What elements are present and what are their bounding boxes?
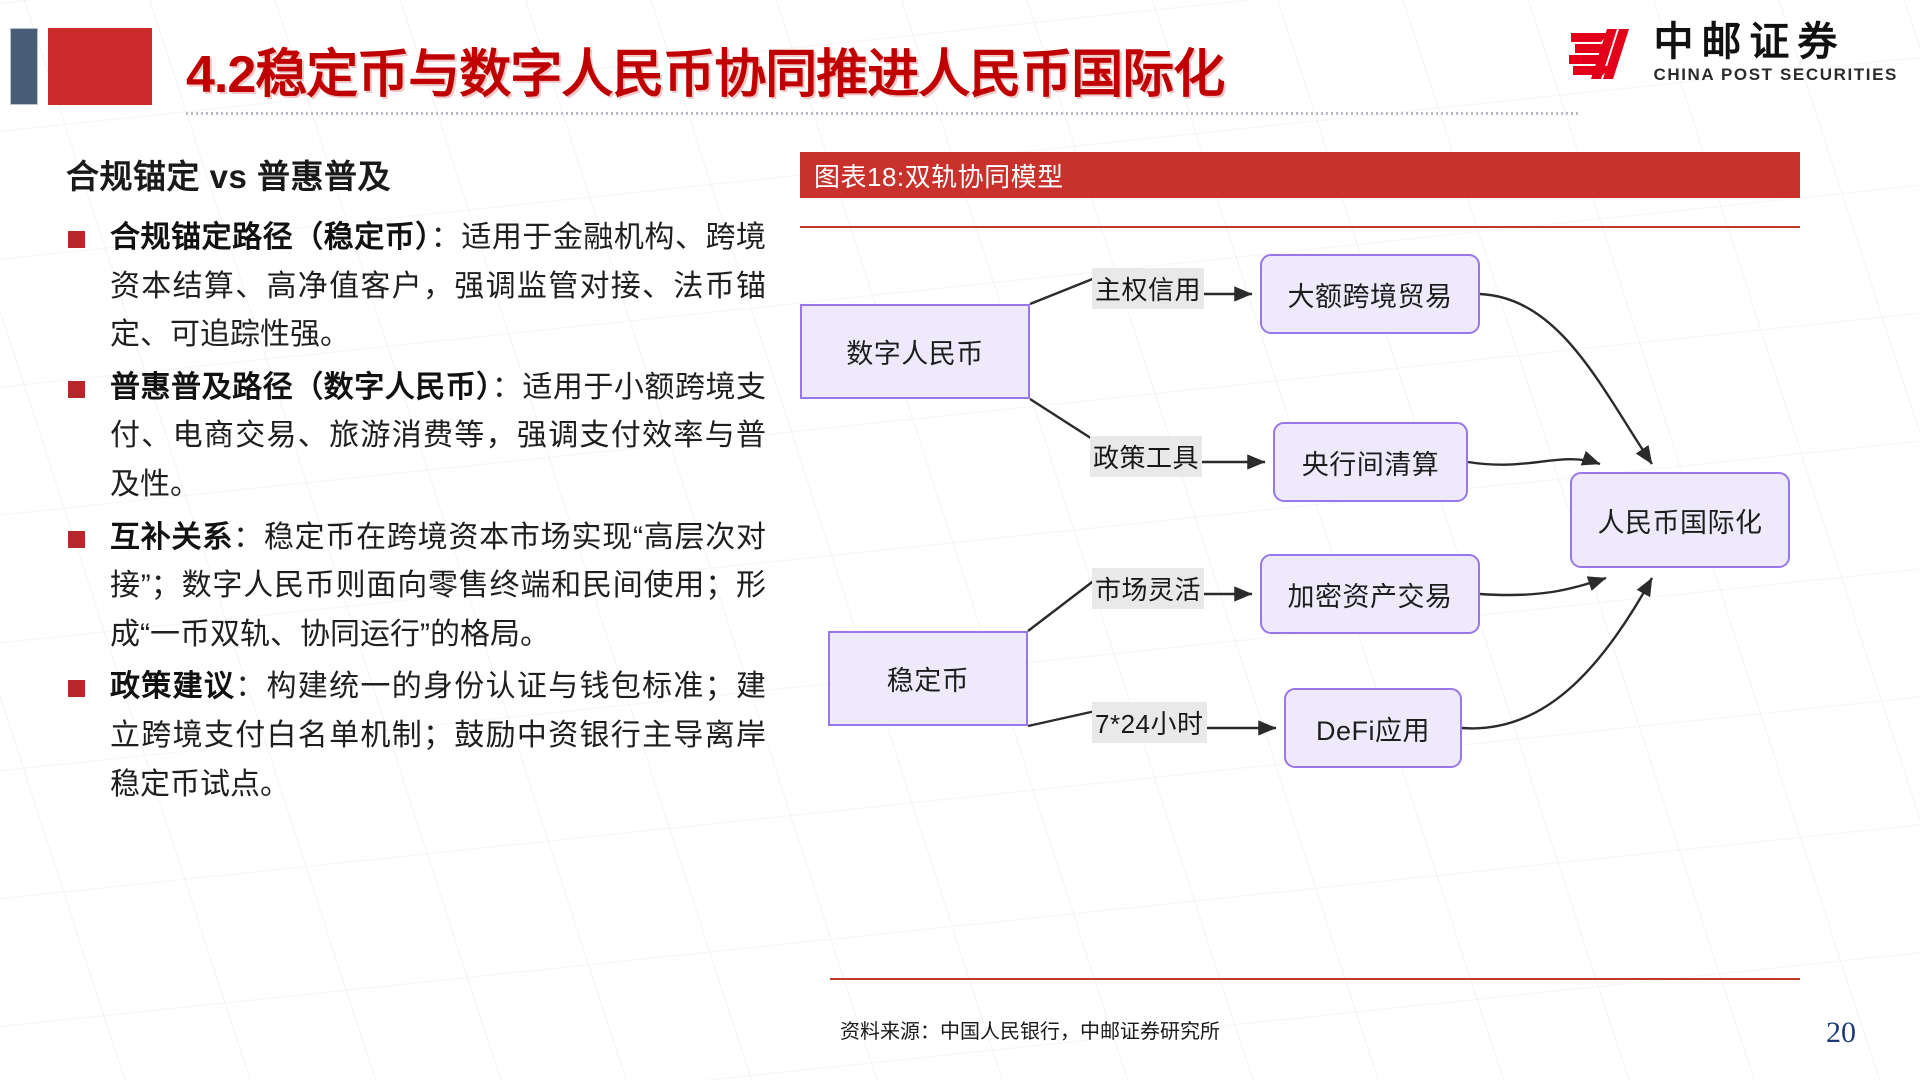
page-number: 20	[1826, 1016, 1856, 1050]
node-stablecoin[interactable]: 稳定币	[828, 631, 1028, 726]
edge-label-policy-tool: 政策工具	[1090, 436, 1202, 477]
bullet-lead: 普惠普及路径（数字人民币）	[110, 371, 492, 404]
bullet-text: 互补关系：稳定币在跨境资本市场实现“高层次对接”；数字人民币则面向零售终端和民间…	[110, 514, 766, 660]
china-post-logo-icon	[1567, 23, 1639, 85]
node-crypto-asset-trading[interactable]: 加密资产交易	[1260, 554, 1480, 634]
brand-name-en: CHINA POST SECURITIES	[1653, 65, 1898, 85]
bullet-lead: 互补关系	[110, 521, 233, 554]
slide-root: 4.2稳定币与数字人民币协同推进人民币国际化 中邮证券 CHINA POST S…	[0, 0, 1920, 1080]
bullet-square-icon	[68, 531, 85, 548]
bullet-lead: 政策建议	[110, 670, 235, 703]
list-item: 普惠普及路径（数字人民币）：适用于小额跨境支付、电商交易、旅游消费等，强调支付效…	[66, 364, 766, 510]
list-item: 政策建议：构建统一的身份认证与钱包标准；建立跨境支付白名单机制；鼓励中资银行主导…	[66, 663, 766, 809]
chart-top-rule	[800, 226, 1800, 228]
left-content-column: 合规锚定 vs 普惠普及 合规锚定路径（稳定币）：适用于金融机构、跨境资本结算、…	[66, 150, 766, 813]
bullet-text: 普惠普及路径（数字人民币）：适用于小额跨境支付、电商交易、旅游消费等，强调支付效…	[110, 364, 766, 510]
header-accent-block-red	[48, 28, 152, 105]
bullet-square-icon	[68, 680, 85, 697]
node-digital-rmb[interactable]: 数字人民币	[800, 304, 1030, 399]
bullet-square-icon	[68, 381, 85, 398]
list-item: 合规锚定路径（稳定币）：适用于金融机构、跨境资本结算、高净值客户，强调监管对接、…	[66, 214, 766, 360]
brand-logo: 中邮证券 CHINA POST SECURITIES	[1567, 22, 1898, 85]
source-note: 资料来源：中国人民银行，中邮证券研究所	[840, 1015, 1220, 1044]
page-title: 4.2稳定币与数字人民币协同推进人民币国际化	[186, 30, 1406, 108]
brand-logo-text: 中邮证券 CHINA POST SECURITIES	[1653, 22, 1898, 85]
bullet-text: 政策建议：构建统一的身份认证与钱包标准；建立跨境支付白名单机制；鼓励中资银行主导…	[110, 663, 766, 809]
list-item: 互补关系：稳定币在跨境资本市场实现“高层次对接”；数字人民币则面向零售终端和民间…	[66, 514, 766, 660]
edge-label-market-flexible: 市场灵活	[1092, 568, 1204, 609]
chart-bottom-rule	[830, 978, 1800, 980]
chart-title-bar: 图表18:双轨协同模型	[800, 152, 1800, 198]
edge-label-24x7: 7*24小时	[1092, 702, 1207, 743]
edge-label-sovereign-credit: 主权信用	[1092, 268, 1204, 309]
brand-name-cn: 中邮证券	[1653, 22, 1898, 63]
chart-title-label: 图表18:双轨协同模型	[814, 157, 1064, 194]
bullet-square-icon	[68, 231, 85, 248]
dual-track-model-diagram: 数字人民币 稳定币 大额跨境贸易 央行间清算 加密资产交易 DeFi应用 人民币…	[800, 236, 1810, 966]
bullet-lead: 合规锚定路径（稳定币）	[110, 221, 431, 254]
node-interbank-clearing[interactable]: 央行间清算	[1273, 422, 1468, 502]
left-section-heading: 合规锚定 vs 普惠普及	[66, 150, 766, 198]
header-accent-bar-blue	[10, 28, 38, 105]
title-divider	[186, 112, 1581, 115]
node-large-cross-border-trade[interactable]: 大额跨境贸易	[1260, 254, 1480, 334]
node-rmb-internationalization[interactable]: 人民币国际化	[1570, 472, 1790, 568]
node-defi-applications[interactable]: DeFi应用	[1284, 688, 1462, 768]
bullet-text: 合规锚定路径（稳定币）：适用于金融机构、跨境资本结算、高净值客户，强调监管对接、…	[110, 214, 766, 360]
